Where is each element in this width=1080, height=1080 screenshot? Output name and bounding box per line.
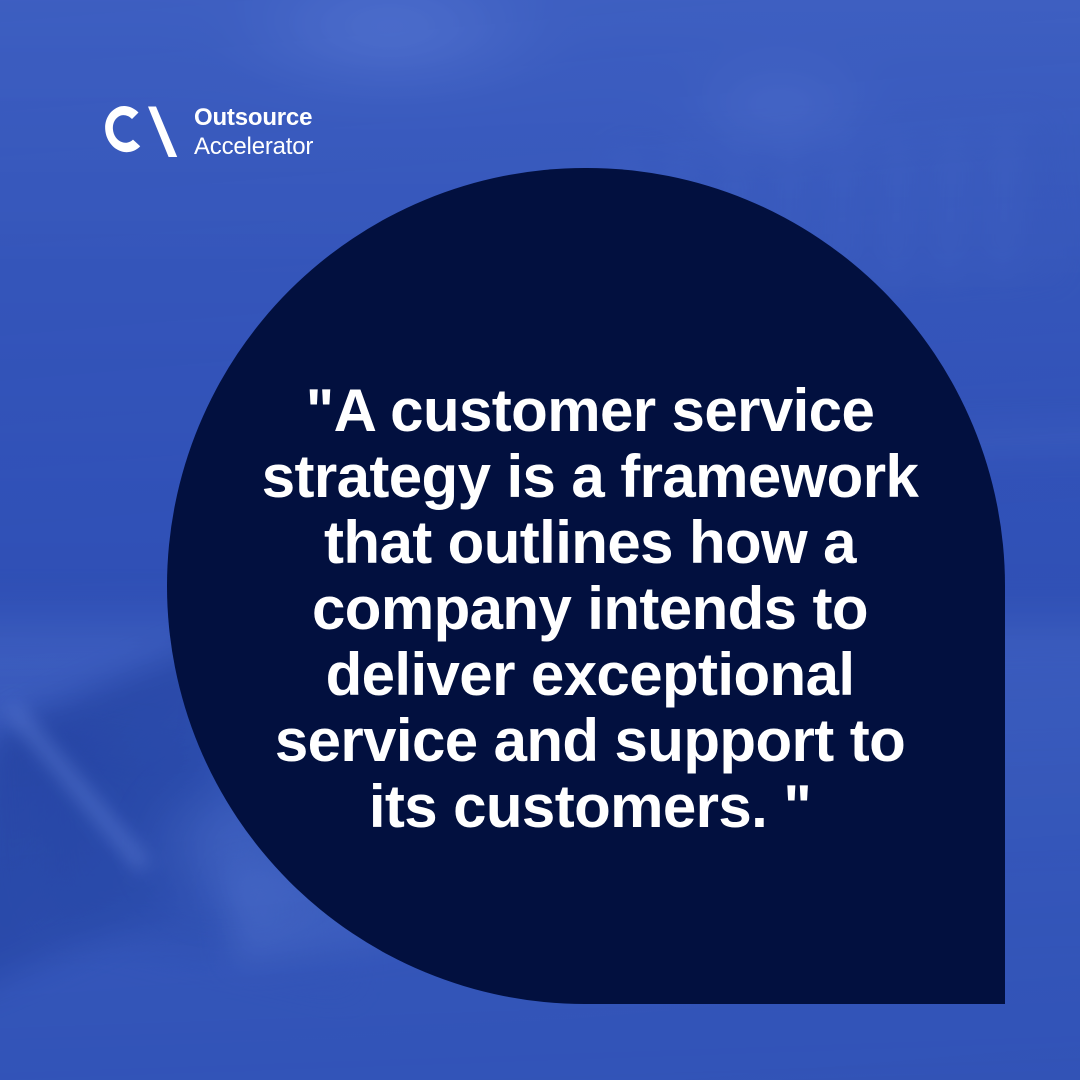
brand-name-line-1: Outsource	[194, 106, 313, 130]
outsource-accelerator-monogram-icon	[104, 104, 178, 160]
brand-name-line-2: Accelerator	[194, 135, 313, 159]
quote-text: "A customer service strategy is a framew…	[195, 378, 985, 840]
brand-logo[interactable]: Outsource Accelerator	[104, 104, 313, 160]
social-quote-card: Outsource Accelerator "A customer servic…	[0, 0, 1080, 1080]
brand-name: Outsource Accelerator	[194, 106, 313, 159]
